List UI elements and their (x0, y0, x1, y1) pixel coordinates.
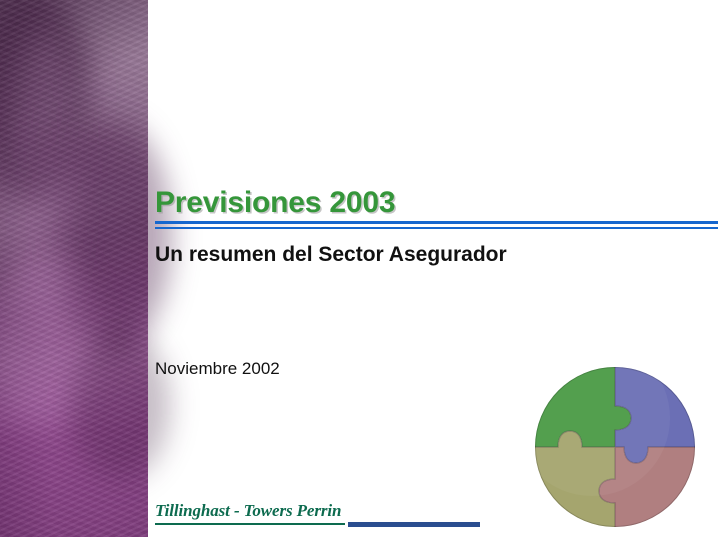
left-decorative-band (0, 0, 148, 537)
puzzle-svg (534, 366, 696, 528)
puzzle-circle-graphic (534, 366, 696, 528)
title-rule-thick (155, 221, 718, 224)
logo-wordmark: Tillinghast - Towers Perrin (155, 501, 341, 521)
band-texture-blotch (70, 330, 170, 480)
slide-title: Previsiones 2003 (155, 186, 395, 220)
title-rule-thin (155, 227, 718, 229)
slide-date: Noviembre 2002 (155, 359, 280, 379)
logo-underline-blue-bar (348, 522, 480, 527)
slide-subtitle: Un resumen del Sector Asegurador (155, 243, 507, 267)
band-texture-blotch (52, 120, 172, 350)
company-logo: Tillinghast - Towers Perrin (155, 501, 485, 531)
band-texture-blotch (0, 0, 90, 200)
band-texture-blotch (10, 30, 80, 330)
band-texture-blotch (0, 250, 100, 430)
logo-underline-green (155, 523, 345, 525)
slide-canvas: Previsiones 2003 Un resumen del Sector A… (0, 0, 718, 537)
